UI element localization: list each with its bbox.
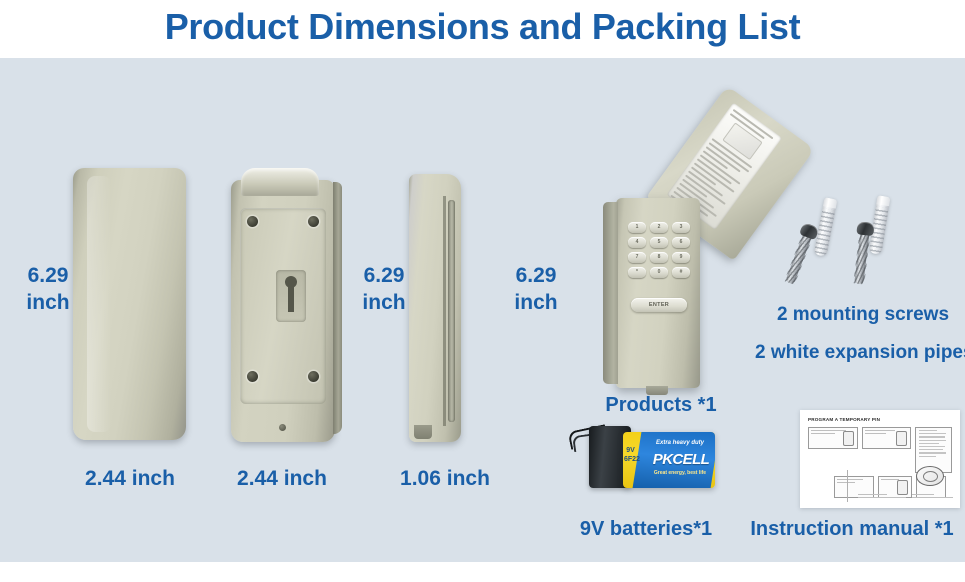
manual-heading: PROGRAM A TEMPORARY PIN bbox=[808, 417, 952, 422]
page-title: Product Dimensions and Packing List bbox=[0, 2, 965, 52]
keypad-key-grid[interactable]: 1 2 3 4 5 6 7 8 9 * 0 # bbox=[628, 222, 690, 278]
manual-step-panel bbox=[808, 427, 858, 449]
height-label-view3: 6.29 inch bbox=[492, 262, 580, 316]
key-6[interactable]: 6 bbox=[672, 237, 690, 248]
battery-voltage: 9V 6F22 bbox=[624, 446, 637, 464]
key-0[interactable]: 0 bbox=[650, 267, 668, 278]
battery-subline: Great energy, best life bbox=[647, 470, 713, 476]
height-label-view1: 6.29 inch bbox=[4, 262, 92, 316]
keypad-side-face bbox=[603, 202, 618, 384]
key-star[interactable]: * bbox=[628, 267, 646, 278]
fastener-label-pipes: 2 white expansion pipes bbox=[755, 339, 965, 367]
key-5[interactable]: 5 bbox=[650, 237, 668, 248]
mount-hole-icon bbox=[308, 216, 319, 227]
key-4[interactable]: 4 bbox=[628, 237, 646, 248]
expansion-pipe-icon bbox=[814, 197, 838, 256]
side-seam bbox=[443, 196, 446, 426]
width-label-view3: 1.06 inch bbox=[378, 465, 512, 492]
battery-brand: PKCELL bbox=[645, 451, 715, 468]
side-notch bbox=[414, 425, 432, 439]
mounting-plate bbox=[240, 208, 326, 404]
key-hash[interactable]: # bbox=[672, 267, 690, 278]
keypad-body: 1 2 3 4 5 6 7 8 9 * 0 # ENTER bbox=[616, 198, 700, 388]
manual-footer bbox=[858, 494, 960, 500]
keyhole-slot-icon bbox=[276, 270, 306, 322]
instruction-manual: PROGRAM A TEMPORARY PIN bbox=[800, 410, 960, 508]
side-lip bbox=[448, 200, 455, 422]
mount-hole-icon bbox=[247, 216, 258, 227]
mounting-screw-icon bbox=[853, 222, 871, 285]
key-8[interactable]: 8 bbox=[650, 252, 668, 263]
side-profile-view bbox=[409, 174, 461, 442]
bottom-screw-hole-icon bbox=[279, 424, 286, 431]
width-label-view2: 2.44 inch bbox=[215, 465, 349, 492]
key-9[interactable]: 9 bbox=[672, 252, 690, 263]
manual-seal-icon bbox=[916, 466, 944, 486]
caption-manual: Instruction manual *1 bbox=[738, 516, 965, 542]
mount-hole-icon bbox=[308, 371, 319, 382]
key-2[interactable]: 2 bbox=[650, 222, 668, 233]
caption-products: Products *1 bbox=[566, 392, 756, 418]
back-plate-view bbox=[231, 180, 335, 442]
back-top-cap bbox=[241, 168, 319, 196]
fastener-label-screws: 2 mounting screws bbox=[763, 301, 963, 329]
enter-button[interactable]: ENTER bbox=[631, 298, 687, 312]
key-1[interactable]: 1 bbox=[628, 222, 646, 233]
product-infographic: Product Dimensions and Packing List 6.29… bbox=[0, 0, 965, 582]
battery-label: 9V 6F22 Extra heavy duty PKCELL Great en… bbox=[623, 432, 715, 488]
caption-battery: 9V batteries*1 bbox=[556, 516, 736, 542]
manual-connector-line bbox=[847, 470, 848, 502]
mount-hole-icon bbox=[247, 371, 258, 382]
key-3[interactable]: 3 bbox=[672, 222, 690, 233]
width-label-view1: 2.44 inch bbox=[63, 465, 197, 492]
key-7[interactable]: 7 bbox=[628, 252, 646, 263]
battery: 9V 6F22 Extra heavy duty PKCELL Great en… bbox=[583, 425, 723, 500]
fasteners-group bbox=[795, 196, 920, 288]
manual-step-panel bbox=[862, 427, 912, 449]
battery-tagline: Extra heavy duty bbox=[647, 440, 713, 446]
